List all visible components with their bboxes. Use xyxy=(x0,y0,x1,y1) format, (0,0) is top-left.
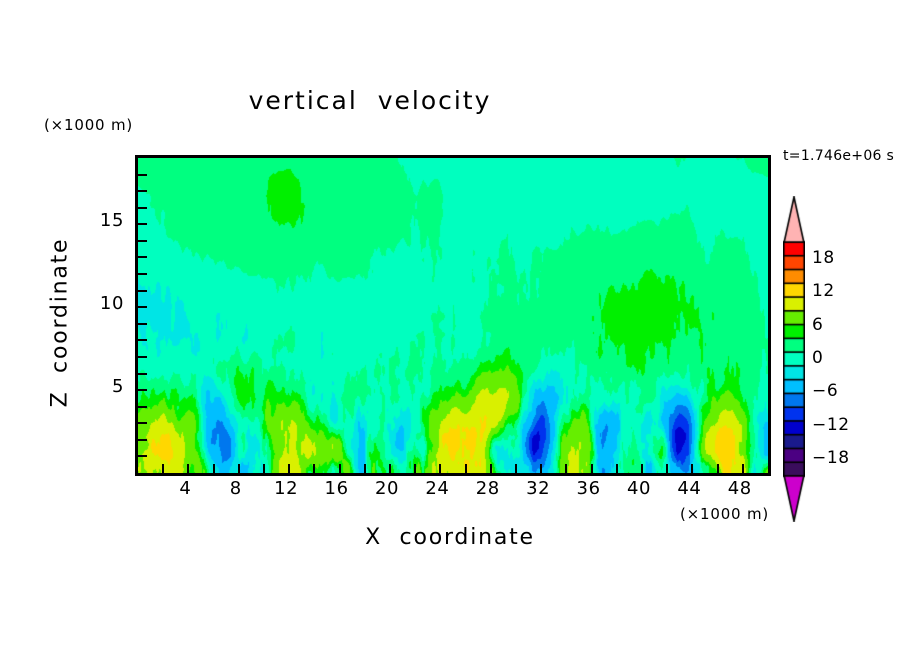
figure-canvas: vertical velocity (×1000 m) t=1.746e+06 … xyxy=(0,0,904,654)
x-tick xyxy=(364,464,366,473)
y-tick xyxy=(138,273,147,275)
x-tick xyxy=(439,464,441,473)
x-tick xyxy=(288,464,290,473)
colorbar-tick-label: 6 xyxy=(812,315,823,335)
colorbar-tick-label: 12 xyxy=(812,281,835,301)
colorbar-tick-label: −12 xyxy=(812,415,850,435)
x-tick xyxy=(515,464,517,473)
y-tick xyxy=(138,207,147,209)
y-tick xyxy=(138,323,147,325)
x-tick xyxy=(490,464,492,473)
y-tick xyxy=(138,439,147,441)
x-tick xyxy=(389,464,391,473)
y-tick xyxy=(138,389,147,391)
x-tick xyxy=(414,464,416,473)
colorbar xyxy=(783,196,805,522)
y-tick xyxy=(138,455,147,457)
y-axis-units-label: (×1000 m) xyxy=(44,116,133,134)
colorbar-tick-label: −6 xyxy=(812,381,838,401)
colorbar-tick-label: 18 xyxy=(812,248,835,268)
page-title: vertical velocity xyxy=(0,86,740,115)
x-tick xyxy=(616,464,618,473)
colorbar-tick-label: 0 xyxy=(812,348,823,368)
colorbar-tick-label: −18 xyxy=(812,448,850,468)
x-tick-label: 48 xyxy=(710,478,770,499)
colorbar-gradient xyxy=(783,196,805,522)
x-tick xyxy=(339,464,341,473)
x-axis-units-label: (×1000 m) xyxy=(680,505,769,523)
x-tick xyxy=(162,464,164,473)
y-tick xyxy=(138,406,147,408)
time-annotation: t=1.746e+06 s xyxy=(783,148,894,164)
y-tick xyxy=(138,373,147,375)
y-tick-label: 10 xyxy=(84,293,124,314)
y-tick xyxy=(138,190,147,192)
vertical-velocity-heatmap xyxy=(138,158,768,473)
y-tick xyxy=(138,306,147,308)
x-tick xyxy=(187,464,189,473)
y-tick xyxy=(138,339,147,341)
x-tick xyxy=(691,464,693,473)
y-tick xyxy=(138,290,147,292)
y-axis-title: Z coordinate xyxy=(48,223,73,423)
y-tick xyxy=(138,256,147,258)
y-tick xyxy=(138,223,147,225)
x-axis-title: X coordinate xyxy=(250,525,650,550)
x-tick xyxy=(540,464,542,473)
x-tick xyxy=(565,464,567,473)
x-tick xyxy=(666,464,668,473)
x-tick xyxy=(641,464,643,473)
x-tick xyxy=(717,464,719,473)
x-tick xyxy=(313,464,315,473)
x-tick xyxy=(742,464,744,473)
x-tick xyxy=(238,464,240,473)
x-tick xyxy=(465,464,467,473)
plot-area xyxy=(135,155,771,476)
y-tick-label: 15 xyxy=(84,210,124,231)
y-tick xyxy=(138,240,147,242)
y-tick xyxy=(138,174,147,176)
x-tick xyxy=(263,464,265,473)
y-tick xyxy=(138,422,147,424)
x-tick xyxy=(591,464,593,473)
x-tick xyxy=(213,464,215,473)
y-tick-label: 5 xyxy=(84,376,124,397)
y-tick xyxy=(138,356,147,358)
